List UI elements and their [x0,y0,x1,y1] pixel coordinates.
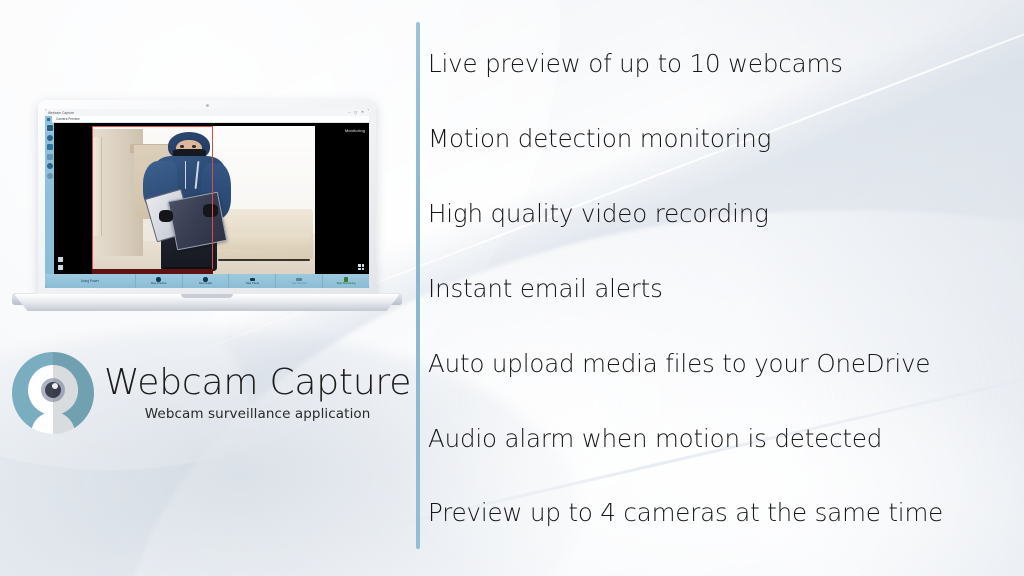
feature-item: Audio alarm when motion is detected [428,427,1018,452]
feature-item: Preview up to 4 cameras at the same time [428,501,1018,526]
scene-door-panel [93,137,102,236]
start-record-button[interactable]: Start Record [276,274,323,288]
app-tagline: Webcam surveillance application [104,402,411,422]
sidebar-item-gallery[interactable] [47,144,53,150]
close-icon[interactable]: ✕ [361,111,364,114]
window-controls: – ◻ ✕ [348,111,366,114]
brand-block: Webcam Capture Webcam surveillance appli… [12,352,411,434]
grid-layout-icon[interactable] [358,264,364,270]
take-photo-button[interactable]: Take Photo [229,274,276,288]
app-tabbar: Camera Preview [45,116,369,123]
monitoring-status-label: Monitoring [345,128,365,133]
scene-intruder [134,132,246,271]
camera-viewport[interactable]: Monitoring [54,123,369,274]
app-name: Webcam Capture [104,364,411,402]
audio-icon [203,277,208,282]
feature-item: Motion detection monitoring [428,127,1018,152]
feature-item: Live preview of up to 10 webcams [428,52,1018,77]
tab-camera-preview[interactable]: Camera Preview [52,117,80,121]
scene-stolen-tv [168,191,228,250]
app-body: Monitoring [45,123,369,274]
fullscreen-icon[interactable] [58,257,63,262]
app-bottom-toolbar: Using Power Stop Preview Start Audio Tak… [45,274,369,288]
app-titlebar: Webcam Capture – ◻ ✕ [45,109,369,116]
motion-detection-bar [92,269,213,274]
feature-item: Instant email alerts [428,277,1018,302]
viewport-overlay-icons [58,257,63,270]
laptop-lid: Webcam Capture – ◻ ✕ Camera Preview [38,100,376,296]
laptop-trackpad-notch [181,294,233,298]
snapshot-icon[interactable] [58,265,63,270]
maximize-icon[interactable]: ◻ [354,111,357,114]
laptop-webcam-dot [206,104,209,107]
photo-icon [250,278,255,282]
app-sidebar [45,123,54,274]
sidebar-item-camera-preview[interactable] [47,125,53,131]
stop-monitoring-button[interactable]: Stop Monitoring [323,274,369,288]
app-window: Webcam Capture – ◻ ✕ Camera Preview [45,109,369,288]
feature-item: High quality video recording [428,202,1018,227]
laptop-mockup: Webcam Capture – ◻ ✕ Camera Preview [14,100,400,318]
feature-list: Live preview of up to 10 webcams Motion … [428,24,1018,548]
vertical-divider [416,22,420,549]
sidebar-item-add-camera[interactable] [47,135,53,141]
power-status-label: Using Power [45,274,136,288]
promo-banner: Webcam Capture – ◻ ✕ Camera Preview [0,0,1024,576]
laptop-screen: Webcam Capture – ◻ ✕ Camera Preview [45,109,369,288]
feature-item: Auto upload media files to your OneDrive [428,352,1018,377]
stop-preview-icon [156,277,161,282]
stop-preview-button[interactable]: Stop Preview [136,274,183,288]
brand-text: Webcam Capture Webcam surveillance appli… [104,364,411,422]
minimize-icon[interactable]: – [348,111,350,114]
sidebar-item-about[interactable] [47,173,53,179]
camera-icon [45,116,52,123]
start-audio-button[interactable]: Start Audio [183,274,230,288]
app-window-title: Webcam Capture [48,111,74,115]
camera-feed [92,126,315,274]
record-icon [296,278,302,282]
sidebar-item-files[interactable] [47,154,53,160]
webcam-eye-logo-icon [12,352,94,434]
sidebar-item-settings[interactable] [47,163,53,169]
monitoring-icon [344,277,349,282]
